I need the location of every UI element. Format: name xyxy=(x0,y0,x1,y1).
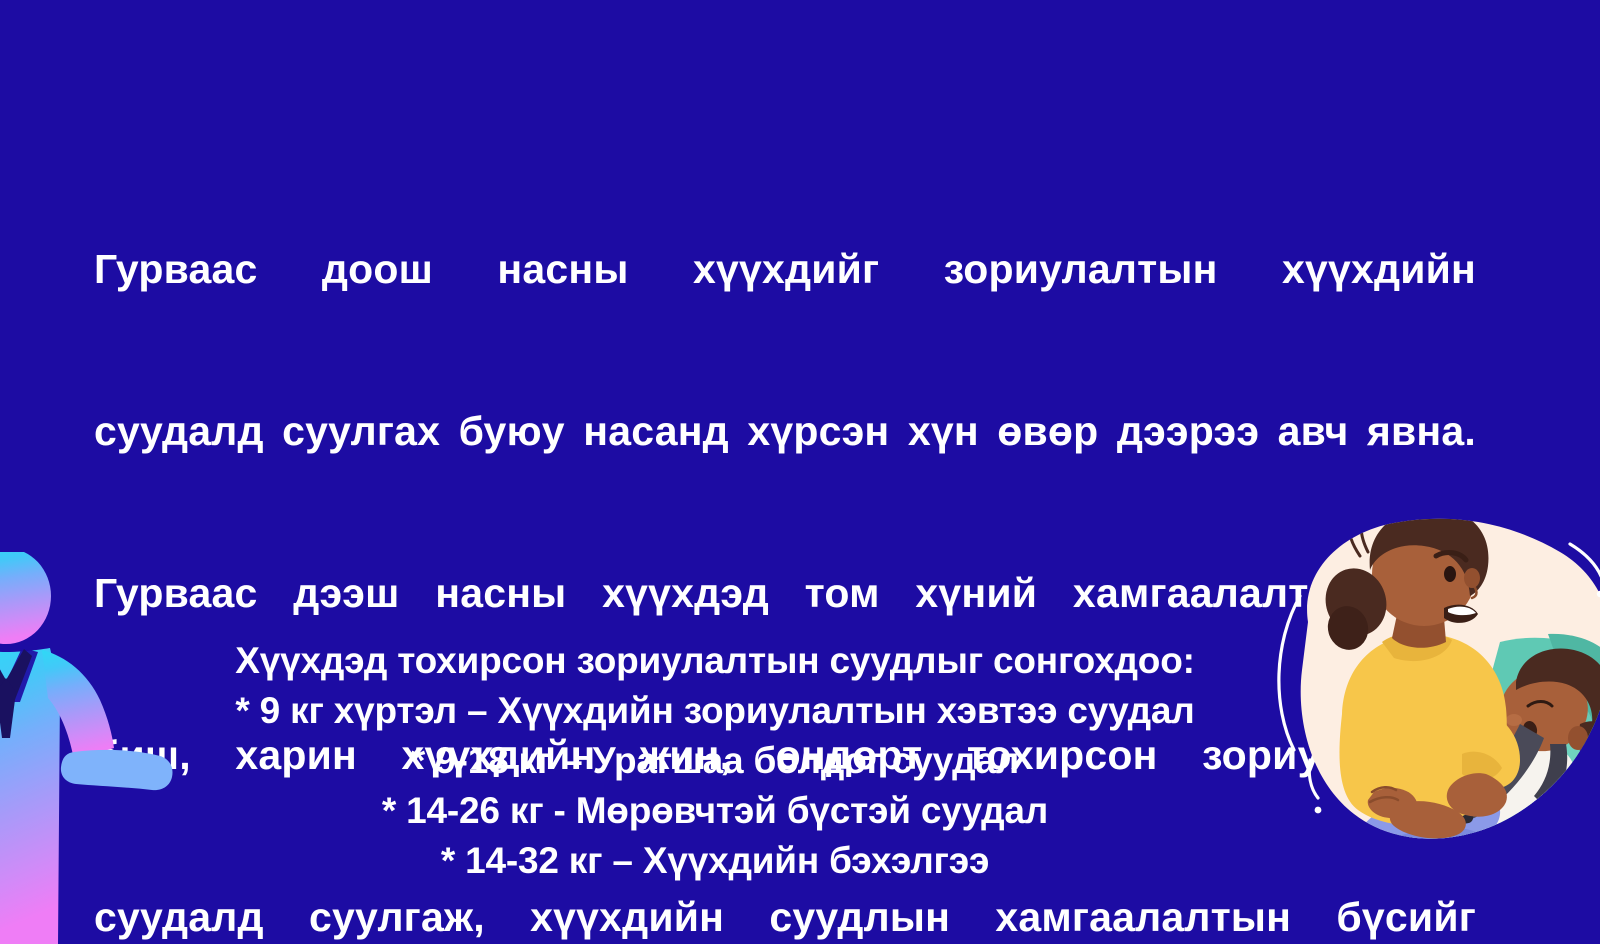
bottom-list-heading: Хүүхдэд тохирсон зориулалтын суудлыг сон… xyxy=(120,636,1310,686)
bottom-list-item-1: * 9 кг хүртэл – Хүүхдийн зориулалтын хэв… xyxy=(120,686,1310,736)
bottom-list-item-3: * 14-26 кг - Мөрөвчтэй бүстэй суудал xyxy=(120,786,1310,836)
main-paragraph-line-3: Гурваас дээш насны хүүхдэд том хүний хам… xyxy=(94,566,1476,620)
bottom-list-block: Хүүхдэд тохирсон зориулалтын суудлыг сон… xyxy=(120,636,1310,886)
bottom-list-item-2: * 9-18 кг – Урагшаа болдог суудал xyxy=(120,736,1310,786)
main-paragraph-line-2: суудалд суулгах буюу насанд хүрсэн хүн ө… xyxy=(94,404,1476,458)
main-paragraph-line-1: Гурваас доош насны хүүхдийг зориулалтын … xyxy=(94,242,1476,296)
slide-canvas: Гурваас доош насны хүүхдийг зориулалтын … xyxy=(0,0,1600,944)
bottom-list-item-4: * 14-32 кг – Хүүхдийн бэхэлгээ xyxy=(120,836,1310,886)
main-paragraph-line-5: суудалд суулгаж, хүүхдийн суудлын хамгаа… xyxy=(94,890,1476,944)
